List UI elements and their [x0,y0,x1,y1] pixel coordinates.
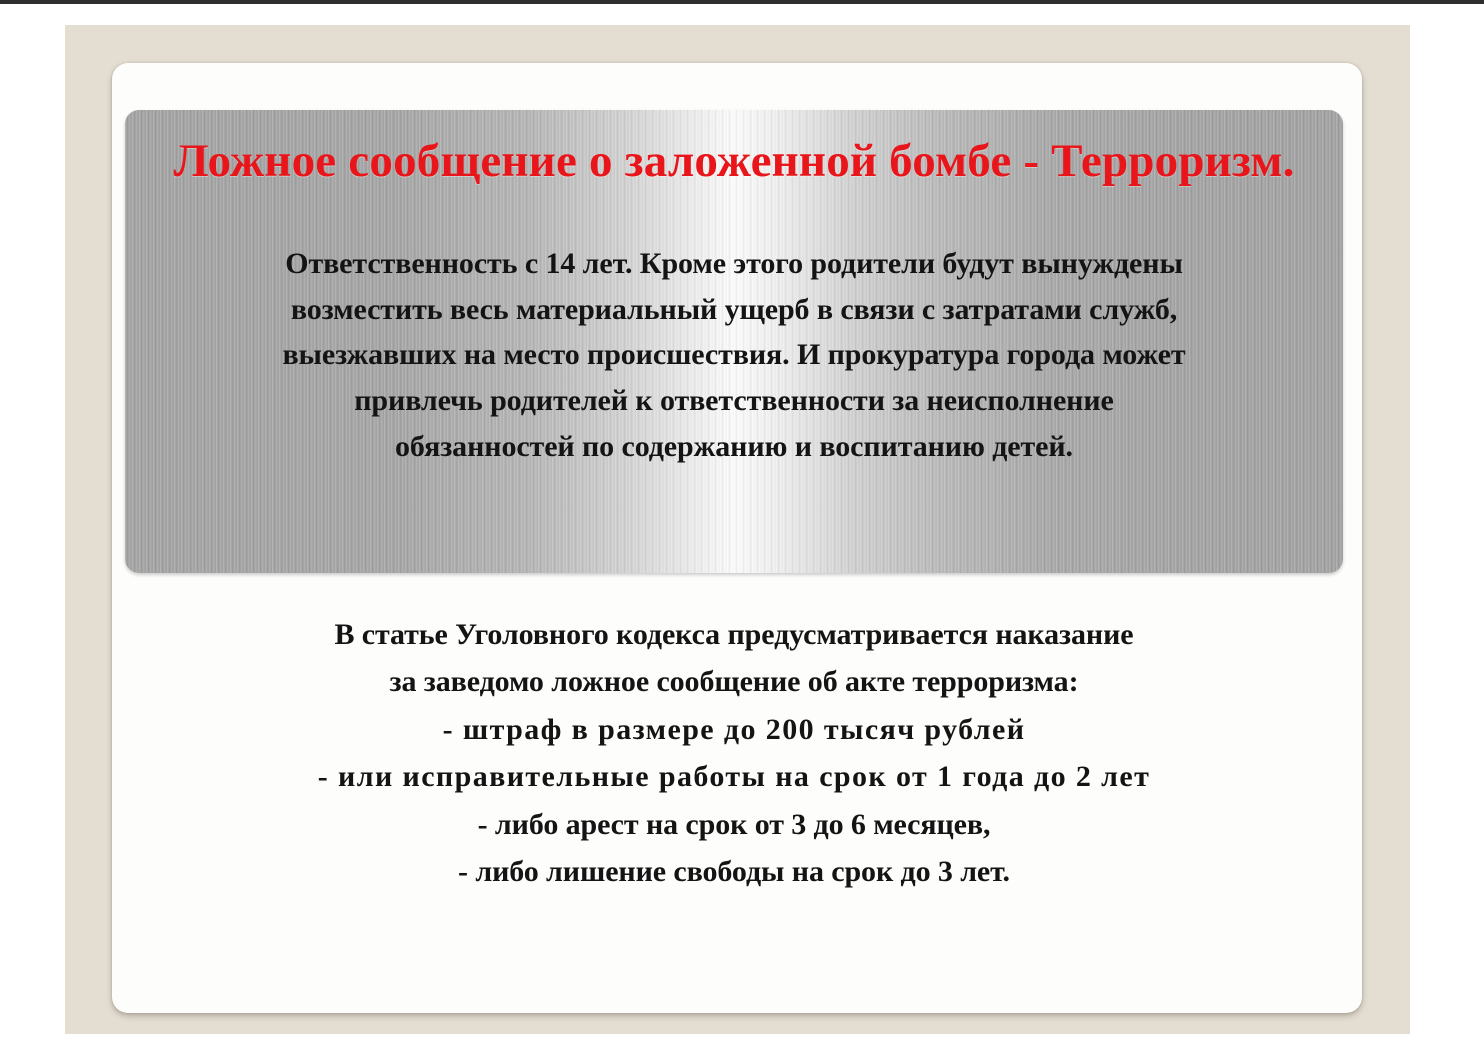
slide-title-line-1: Ложное сообщение о заложенной бомбе - [173,135,1039,187]
top-rule [0,0,1484,4]
callout-line-3: выезжавших на место происшествия. И прок… [157,332,1311,378]
penalty-item-fine: - штраф в размере до 200 тысяч рублей [125,706,1343,753]
slide-content-panel: Ложное сообщение о заложенной бомбе - Те… [112,63,1362,1013]
callout-line-5: обязанностей по содержанию и воспитанию … [157,424,1311,470]
penalty-text-block: В статье Уголовного кодекса предусматрив… [125,611,1343,895]
callout-line-2: возместить весь материальный ущерб в свя… [157,287,1311,333]
title-callout-box: Ложное сообщение о заложенной бомбе - Те… [125,110,1343,573]
penalty-line-1: В статье Уголовного кодекса предусматрив… [125,611,1343,658]
slide-title-line-2: Терроризм. [1051,135,1294,187]
callout-paragraph: Ответственность с 14 лет. Кроме этого ро… [157,241,1311,469]
callout-inner: Ложное сообщение о заложенной бомбе - Те… [125,110,1343,469]
penalty-item-arrest: - либо арест на срок от 3 до 6 месяцев, [125,801,1343,848]
callout-line-1: Ответственность с 14 лет. Кроме этого ро… [157,241,1311,287]
callout-line-4: привлечь родителей к ответственности за … [157,378,1311,424]
penalty-line-2: за заведомо ложное сообщение об акте тер… [125,658,1343,705]
slide-title: Ложное сообщение о заложенной бомбе - Те… [157,132,1311,191]
penalty-item-corrective-labor: - или исправительные работы на срок от 1… [125,753,1343,800]
penalty-item-imprisonment: - либо лишение свободы на срок до 3 лет. [125,848,1343,895]
slide-frame: Ложное сообщение о заложенной бомбе - Те… [65,25,1410,1034]
